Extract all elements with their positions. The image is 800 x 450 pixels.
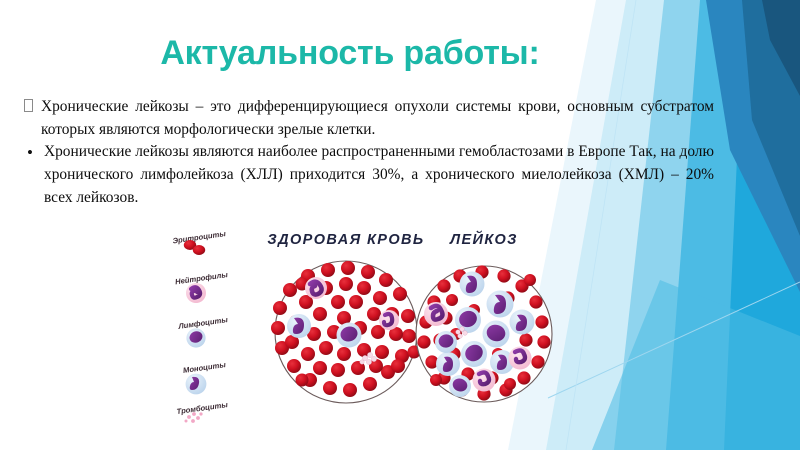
panel-heading-leukemia: ЛЕЙКОЗ bbox=[449, 230, 518, 248]
bullet-item-1: • Хронические лейкозы являются наиболее … bbox=[24, 141, 714, 209]
legend-item-erythrocytes: Эритроциты bbox=[172, 229, 227, 255]
legend-item-monocytes: Моноциты bbox=[182, 360, 226, 394]
legend-group: Эритроциты Нейтрофилы Лимфоц bbox=[172, 229, 229, 423]
legend-item-neutrophils: Нейтрофилы bbox=[175, 270, 229, 303]
bg-polygon-navy-wedge bbox=[762, 0, 800, 96]
healthy-lymphocyte bbox=[287, 314, 311, 338]
tofu-box-glyph-icon bbox=[24, 99, 33, 112]
blast-cell bbox=[510, 310, 535, 335]
legend-item-lymphocytes: Лимфоциты bbox=[177, 315, 229, 348]
legend-label-erythrocytes: Эритроциты bbox=[172, 229, 227, 245]
blast-cell bbox=[436, 352, 460, 376]
healthy-blood-panel bbox=[271, 261, 421, 403]
legend-label-neutrophils: Нейтрофилы bbox=[175, 270, 229, 286]
legend-icon-erythrocytes bbox=[184, 240, 205, 255]
bg-hairline bbox=[548, 282, 800, 398]
bg-polygon-steel-blue-wedge bbox=[706, 0, 800, 292]
legend-label-monocytes: Моноциты bbox=[182, 360, 226, 375]
bg-polygon-deep-blue-wedge bbox=[742, 0, 800, 236]
round-bullet-icon: • bbox=[24, 141, 44, 166]
healthy-monocyte bbox=[337, 323, 362, 348]
blood-diagram-svg: Эритроциты Нейтрофилы Лимфоц bbox=[168, 222, 576, 428]
blast-cell bbox=[460, 272, 485, 297]
leukemia-blood-panel bbox=[416, 265, 552, 402]
blast-cell bbox=[461, 341, 487, 367]
bg-polygon-azure-wedge bbox=[724, 0, 800, 450]
legend-icon-lymphocyte bbox=[186, 328, 205, 347]
leukemia-neutrophil bbox=[473, 369, 496, 392]
legend-label-lymphocytes: Лимфоциты bbox=[177, 315, 229, 331]
legend-icon-neutrophil bbox=[186, 283, 206, 303]
leukemia-neutrophil bbox=[424, 302, 448, 326]
page-title: Актуальность работы: bbox=[0, 34, 700, 72]
bullet-item-0: Хронические лейкозы – это дифференцирующ… bbox=[24, 96, 714, 141]
panel-heading-healthy: ЗДОРОВАЯ КРОВЬ bbox=[267, 232, 424, 248]
bullet-text-0: Хронические лейкозы – это дифференцирующ… bbox=[41, 96, 714, 141]
blast-cell bbox=[483, 321, 510, 348]
blast-cell bbox=[487, 291, 514, 318]
blast-cell bbox=[449, 375, 471, 397]
blood-comparison-diagram: Эритроциты Нейтрофилы Лимфоц bbox=[168, 222, 576, 428]
blast-cell bbox=[435, 331, 457, 353]
leukemia-neutrophil bbox=[509, 347, 532, 370]
bg-polygon-lower-light-wedge bbox=[592, 280, 800, 450]
legend-icon-monocyte bbox=[186, 374, 207, 395]
healthy-neutrophil-2 bbox=[379, 310, 399, 330]
healthy-neutrophil bbox=[305, 277, 327, 299]
presentation-slide: Актуальность работы: Хронические лейкозы… bbox=[0, 0, 800, 450]
body-text-block: Хронические лейкозы – это дифференцирующ… bbox=[24, 96, 714, 209]
legend-item-platelets: Тромбоциты bbox=[176, 400, 229, 423]
blast-cell bbox=[455, 307, 481, 333]
bullet-text-1: Хронические лейкозы являются наиболее ра… bbox=[44, 141, 714, 209]
